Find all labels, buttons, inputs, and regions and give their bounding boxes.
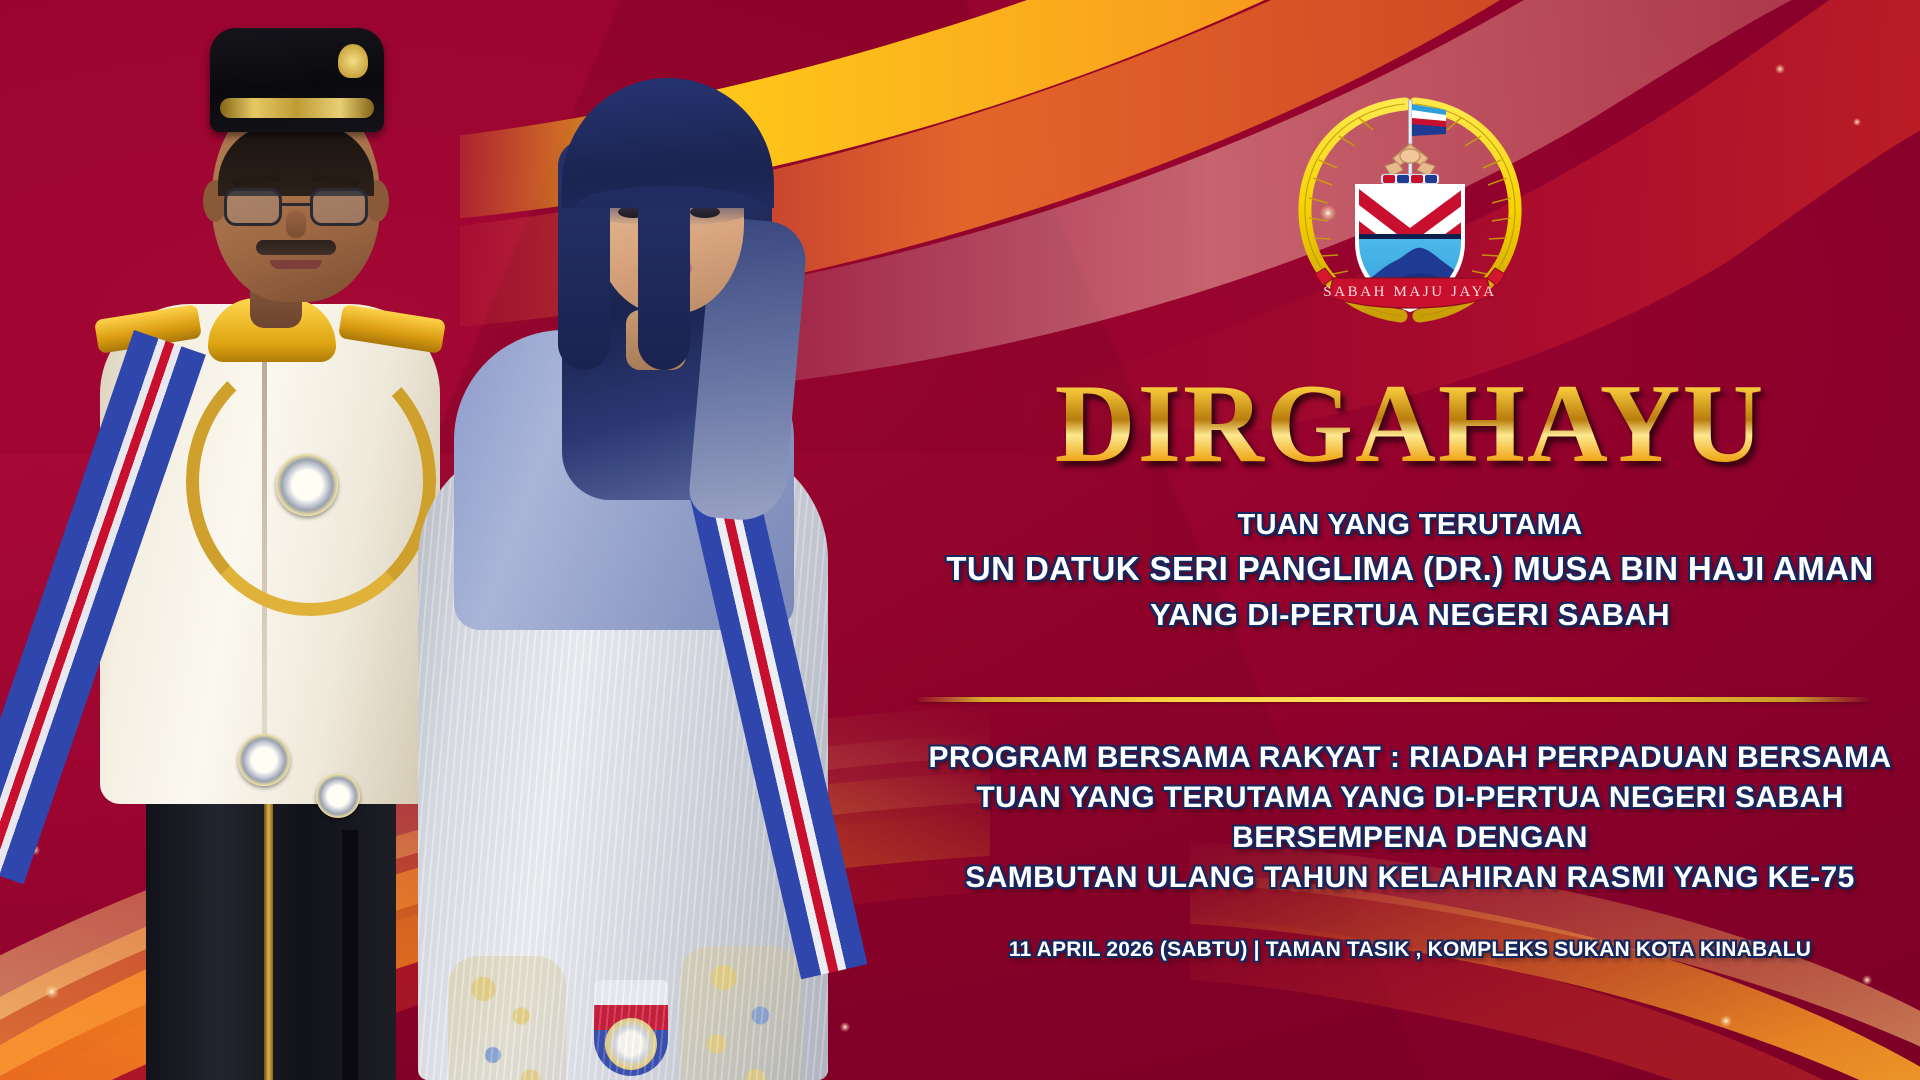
- songkok-hat: [210, 28, 384, 132]
- gold-divider: [916, 697, 1870, 702]
- program-description: PROGRAM BERSAMA RAKYAT : RIADAH PERPADUA…: [900, 738, 1920, 898]
- program-line-2: TUAN YANG TERUTAMA YANG DI-PERTUA NEGERI…: [900, 778, 1920, 818]
- event-details: 11 APRIL 2026 (SABTU) | TAMAN TASIK , KO…: [900, 936, 1920, 963]
- program-line-1: PROGRAM BERSAMA RAKYAT : RIADAH PERPADUA…: [900, 738, 1920, 778]
- star-medal: [316, 774, 360, 818]
- official-portraits: [40, 0, 940, 1080]
- page-title: DIRGAHAYU: [900, 368, 1920, 480]
- honoree-line-2: TUN DATUK SERI PANGLIMA (DR.) MUSA BIN H…: [900, 546, 1920, 593]
- honoree-line-1: TUAN YANG TERUTAMA: [900, 505, 1920, 546]
- songkok-crest-icon: [338, 44, 368, 78]
- sabah-coat-of-arms-icon: SABAH MAJU JAYA: [1285, 82, 1535, 332]
- content-column: SABAH MAJU JAYA DIRGAHAYU TUAN YANG TERU…: [900, 0, 1920, 1080]
- honoree-line-3: YANG DI-PERTUA NEGERI SABAH: [900, 593, 1920, 637]
- beaded-lace-sleeve-right: [680, 946, 802, 1080]
- program-line-4: SAMBUTAN ULANG TAHUN KELAHIRAN RASMI YAN…: [900, 858, 1920, 898]
- star-medal: [238, 734, 290, 786]
- star-medal: [276, 454, 338, 516]
- event-date-venue: 11 APRIL 2026 (SABTU) | TAMAN TASIK , KO…: [900, 936, 1920, 963]
- program-line-3: BERSEMPENA DENGAN: [900, 818, 1920, 858]
- beaded-lace-sleeve-left: [448, 956, 566, 1080]
- honoree-titles: TUAN YANG TERUTAMA TUN DATUK SERI PANGLI…: [900, 505, 1920, 637]
- ribbon-badge: [594, 980, 668, 1076]
- face: [212, 88, 380, 302]
- portrait-consort: [410, 70, 840, 1080]
- crest-motto: SABAH MAJU JAYA: [1323, 284, 1496, 300]
- ceremonial-uniform: [100, 304, 440, 804]
- moustache: [256, 240, 336, 255]
- hijab-front: [562, 78, 774, 208]
- dirgahayu-poster: SABAH MAJU JAYA DIRGAHAYU TUAN YANG TERU…: [0, 0, 1920, 1080]
